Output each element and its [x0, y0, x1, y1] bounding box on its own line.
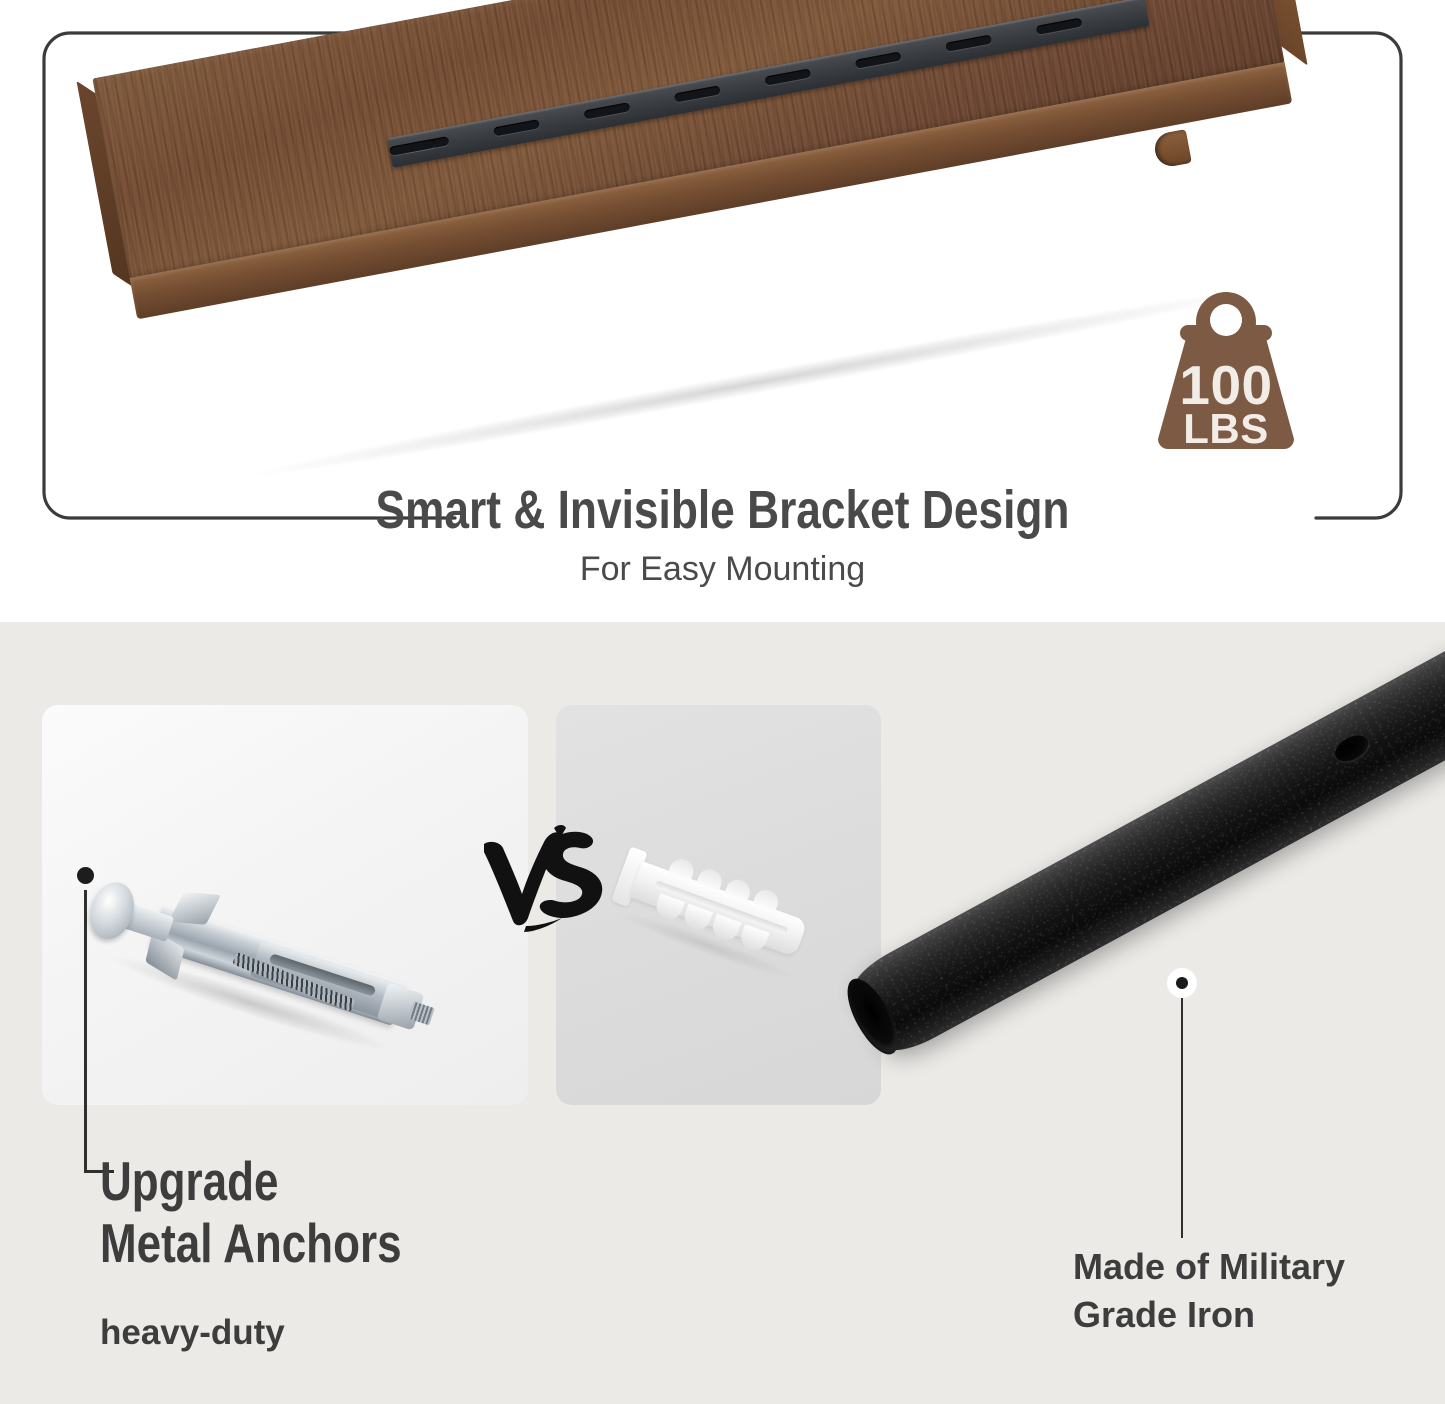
caption-line-1: Upgrade	[100, 1150, 278, 1212]
bracket-end-notch	[1152, 129, 1192, 169]
metal-anchor-caption-subtitle: heavy-duty	[100, 1312, 285, 1354]
bracket-slot	[584, 102, 631, 119]
metal-anchor-illustration	[42, 818, 513, 1105]
bracket-slot	[1036, 18, 1083, 35]
iron-rod-texture	[847, 640, 1445, 1060]
metal-anchor-card	[42, 705, 528, 1105]
caption-line-2: Grade Iron	[1073, 1294, 1255, 1335]
versus-icon	[470, 822, 610, 952]
metal-anchor-caption-title: UpgradeMetal Anchors	[100, 1150, 402, 1274]
plastic-anchor-illustration	[586, 828, 853, 1048]
iron-rod-illustration	[820, 640, 1445, 1260]
weight-unit: LBS	[1136, 409, 1316, 449]
bracket-slot	[855, 51, 902, 68]
bracket-slot	[945, 35, 992, 52]
caption-line-1: Made of Military	[1073, 1246, 1345, 1287]
board-top-surface	[92, 0, 1285, 280]
metal-anchor-callout-line	[84, 890, 87, 1173]
metal-anchor-callout-dot	[68, 858, 102, 892]
shelf-board	[92, 0, 1285, 280]
bracket-slot	[764, 68, 811, 85]
iron-rod-callout-dot	[1167, 968, 1197, 998]
bracket-slot	[493, 119, 540, 136]
headline: Smart & Invisible Bracket Design	[130, 481, 1315, 539]
iron-rod	[847, 640, 1445, 1060]
bracket-slot	[674, 85, 721, 102]
iron-rod-callout-line	[1181, 998, 1183, 1238]
top-section: 100 LBS Smart & Invisible Bracket Design…	[0, 0, 1445, 622]
subheadline: For Easy Mounting	[0, 549, 1445, 589]
weight-value: 100	[1136, 359, 1316, 411]
caption-line-2: Metal Anchors	[100, 1212, 402, 1274]
infographic-stage: 100 LBS Smart & Invisible Bracket Design…	[0, 0, 1445, 1404]
weight-capacity-badge: 100 LBS	[1136, 285, 1316, 455]
iron-rod-caption: Made of MilitaryGrade Iron	[1073, 1243, 1345, 1339]
anchor-wing-upper	[169, 892, 221, 925]
